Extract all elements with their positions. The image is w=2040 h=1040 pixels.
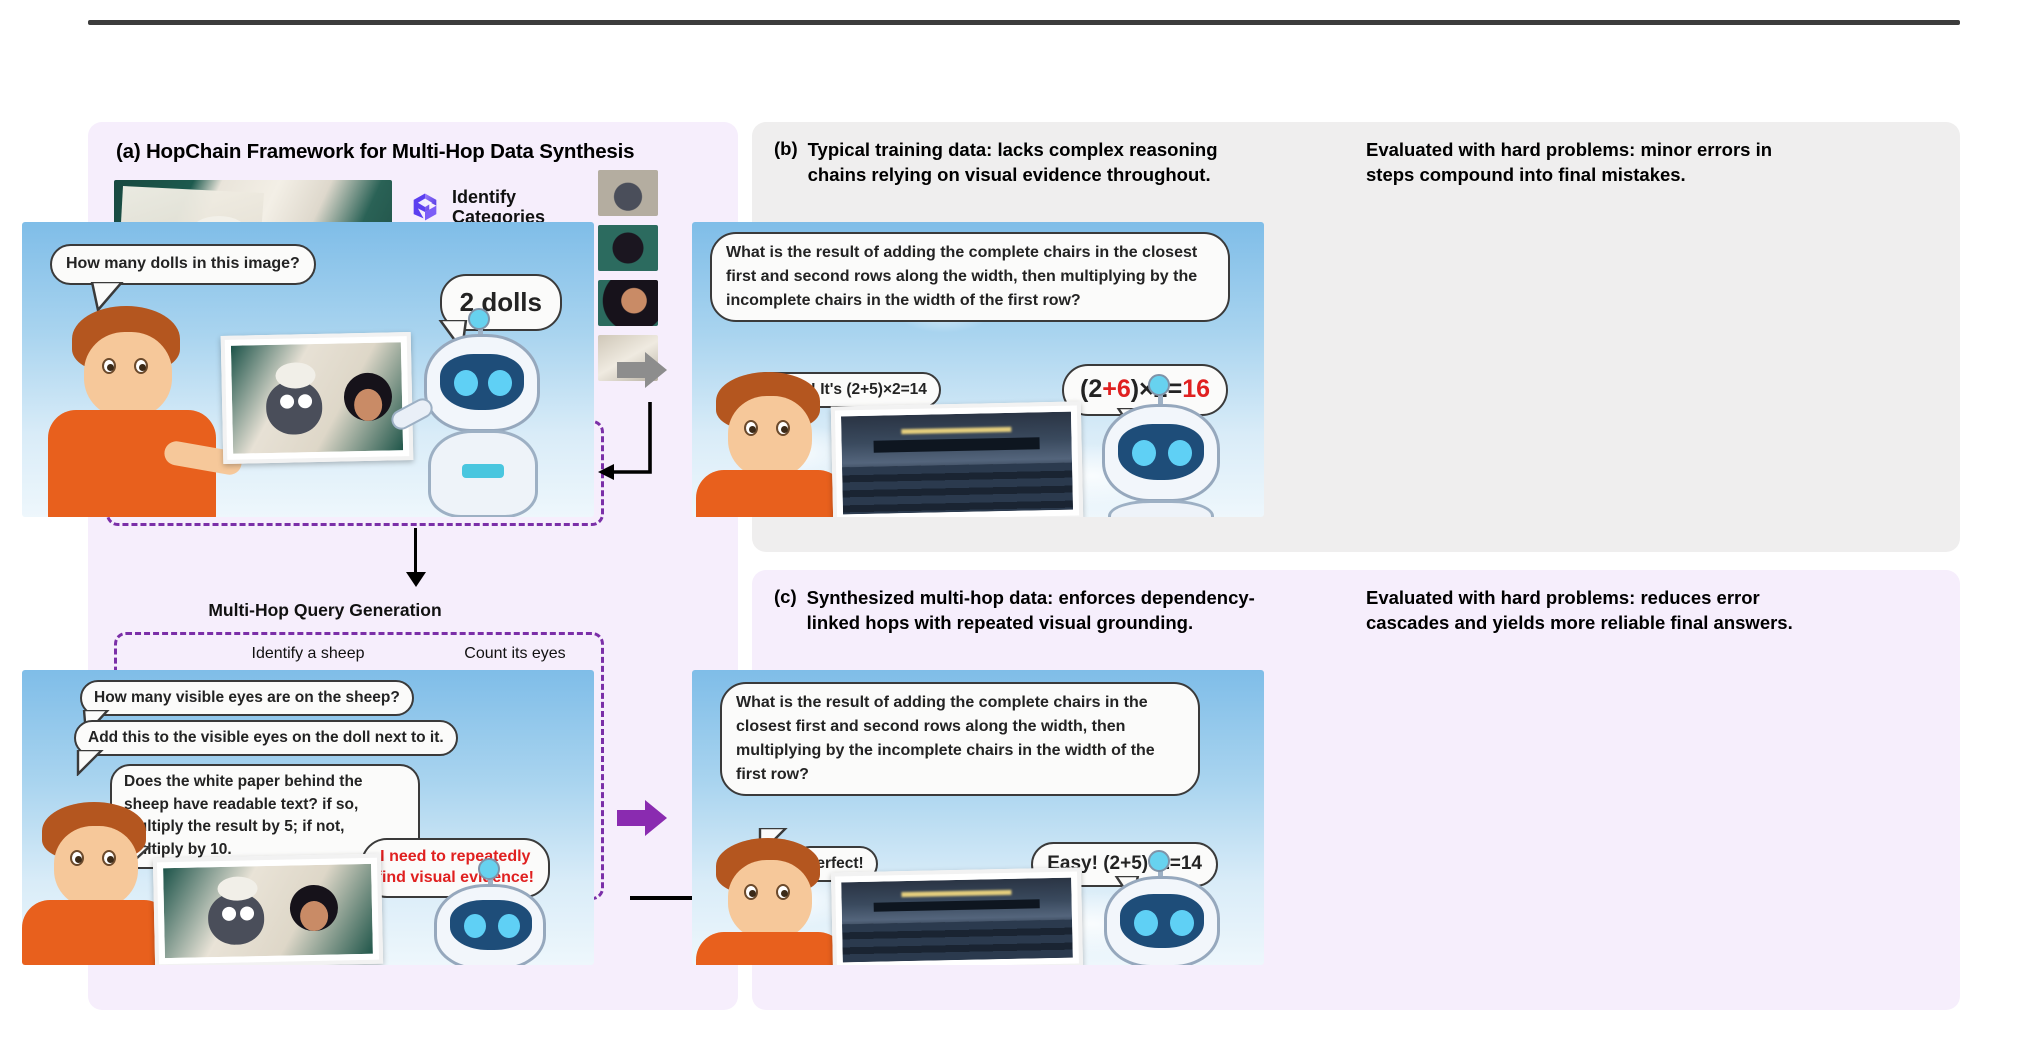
panel-b-scene-row: How many dolls in this image? 2 dolls [22, 222, 2018, 517]
panel-b-auditorium-photo [831, 401, 1083, 517]
auditorium-seats [842, 463, 1073, 515]
robot-eye-left [1134, 910, 1158, 936]
panel-b-tag: (b) [774, 138, 798, 188]
gemini-sparkle-icon [408, 190, 442, 224]
panel-b-robot [386, 318, 576, 517]
person-eye-right [102, 850, 116, 866]
robot-thought-line1: I need to repeatedly [380, 848, 530, 865]
robot-answer-prefix: (2 [1080, 375, 1102, 403]
panel-b-left-line2: chains relying on visual evidence throug… [808, 164, 1211, 185]
panel-c-left-scene: How many visible eyes are on the sheep? … [22, 670, 594, 965]
person-face [54, 826, 138, 908]
panel-b-person [32, 306, 242, 517]
panel-c-left-line1: Synthesized multi-hop data: enforces dep… [807, 587, 1255, 608]
panel-c-left-line2: linked hops with repeated visual groundi… [807, 612, 1194, 633]
robot-chest-light [462, 464, 504, 478]
robot-antenna-ball [468, 308, 490, 330]
robot-body [1108, 500, 1214, 517]
robot-eye-right [488, 370, 512, 396]
panel-c-auditorium-photo [831, 867, 1083, 965]
panel-b-photo-inner-room [841, 412, 1073, 515]
panel-b-right-scene: What is the result of adding the complet… [692, 222, 1264, 517]
panel-c-right-line2: cascades and yields more reliable final … [1366, 612, 1793, 633]
person-body [22, 900, 172, 965]
figure-root: (a) HopChain Framework for Multi-Hop Dat… [0, 0, 2040, 1040]
robot-answer-red-result: 16 [1182, 375, 1210, 403]
person-eye-left [70, 850, 84, 866]
panel-b-hard-question-bubble: What is the result of adding the complet… [710, 232, 1230, 322]
person-body [696, 470, 846, 517]
auditorium-room [841, 878, 1073, 963]
photo-scene-sheep [163, 864, 373, 958]
robot-eye-right [498, 914, 520, 938]
auditorium-room [841, 412, 1073, 515]
auditorium-light [901, 890, 1011, 897]
panel-c-right-caption-text: Evaluated with hard problems: reduces er… [1366, 586, 1793, 636]
panel-c-left-caption: (c) Synthesized multi-hop data: enforces… [774, 586, 1346, 636]
robot-eye-left [454, 370, 478, 396]
auditorium-stage [874, 438, 1040, 453]
multi-hop-query-title: Multi-Hop Query Generation [0, 600, 650, 621]
panel-b-question-bubble: How many dolls in this image? [50, 244, 316, 285]
person-eye-left [744, 884, 758, 900]
purple-right-arrow-icon [617, 798, 669, 838]
panel-b-right-robot [1072, 400, 1252, 517]
robot-arm [388, 395, 436, 433]
panel-c-photo-inner-room [841, 878, 1073, 963]
panel-c-right-line1: Evaluated with hard problems: reduces er… [1366, 587, 1760, 608]
panel-c-robot [406, 884, 576, 965]
auditorium-stage [874, 899, 1040, 912]
person-eye-right [134, 358, 148, 374]
panel-b-captions: (b) Typical training data: lacks complex… [752, 122, 1960, 196]
panel-c-left-caption-text: Synthesized multi-hop data: enforces dep… [807, 586, 1255, 636]
panel-c-right-scene: What is the result of adding the complet… [692, 670, 1264, 965]
panel-c-scene-row: How many visible eyes are on the sheep? … [22, 670, 2018, 965]
robot-antenna-ball [1148, 850, 1170, 872]
panel-b-transition-arrow-wrap [614, 222, 672, 517]
panel-c-transition-arrow-wrap [614, 670, 672, 965]
person-eye-left [102, 358, 116, 374]
panel-b-left-caption: (b) Typical training data: lacks complex… [774, 138, 1346, 188]
person-eye-right [776, 420, 790, 436]
panel-b-photo-inner [231, 342, 403, 454]
robot-eye-left [1132, 440, 1156, 466]
crop-sheep [598, 170, 658, 216]
panel-c-right-caption: Evaluated with hard problems: reduces er… [1366, 586, 1938, 636]
panel-b-left-caption-text: Typical training data: lacks complex rea… [808, 138, 1218, 188]
panel-c-bubble-2: Add this to the visible eyes on the doll… [74, 720, 458, 756]
panel-c-bubble-1: How many visible eyes are on the sheep? [80, 680, 414, 716]
bubble-tail-c-2 [72, 750, 106, 776]
panel-c-held-photo [153, 854, 383, 965]
panel-b-right-line2: steps compound into final mistakes. [1366, 164, 1686, 185]
auditorium-light [901, 427, 1011, 434]
person-face [84, 332, 172, 418]
gray-right-arrow-icon [617, 350, 669, 390]
panel-c-photo-inner [163, 864, 373, 958]
down-arrow-head [406, 572, 426, 587]
down-arrow-line [414, 528, 417, 578]
robot-antenna-ball [478, 858, 500, 880]
robot-eye-right [1170, 910, 1194, 936]
panel-b-right-caption-text: Evaluated with hard problems: minor erro… [1366, 138, 1772, 188]
panel-b-right-caption: Evaluated with hard problems: minor erro… [1366, 138, 1938, 188]
top-rule-divider [88, 20, 1960, 25]
robot-answer-red-term: +6 [1102, 375, 1131, 403]
panel-b-right-line1: Evaluated with hard problems: minor erro… [1366, 139, 1772, 160]
robot-eye-right [1168, 440, 1192, 466]
person-body [696, 932, 846, 965]
panel-c-captions: (c) Synthesized multi-hop data: enforces… [752, 570, 1960, 644]
hop1-result-label: Count its eyes [430, 644, 600, 663]
panel-a-title: (a) HopChain Framework for Multi-Hop Dat… [116, 140, 718, 164]
auditorium-seats [842, 919, 1073, 962]
person-face [728, 860, 812, 940]
robot-eye-left [464, 914, 486, 938]
panel-c-right-robot [1074, 876, 1250, 965]
person-eye-left [744, 420, 758, 436]
operation-identify-line1: Identify [452, 187, 516, 207]
panel-b-held-photo [221, 332, 414, 464]
person-face [728, 396, 812, 478]
panel-b-left-line1: Typical training data: lacks complex rea… [808, 139, 1218, 160]
hop1-step-label: Identify a sheep [228, 644, 388, 663]
panel-c-hard-question-bubble: What is the result of adding the complet… [720, 682, 1200, 796]
panel-c-tag: (c) [774, 586, 797, 636]
robot-antenna-ball [1148, 374, 1170, 396]
panel-b-left-scene: How many dolls in this image? 2 dolls [22, 222, 594, 517]
person-eye-right [776, 884, 790, 900]
